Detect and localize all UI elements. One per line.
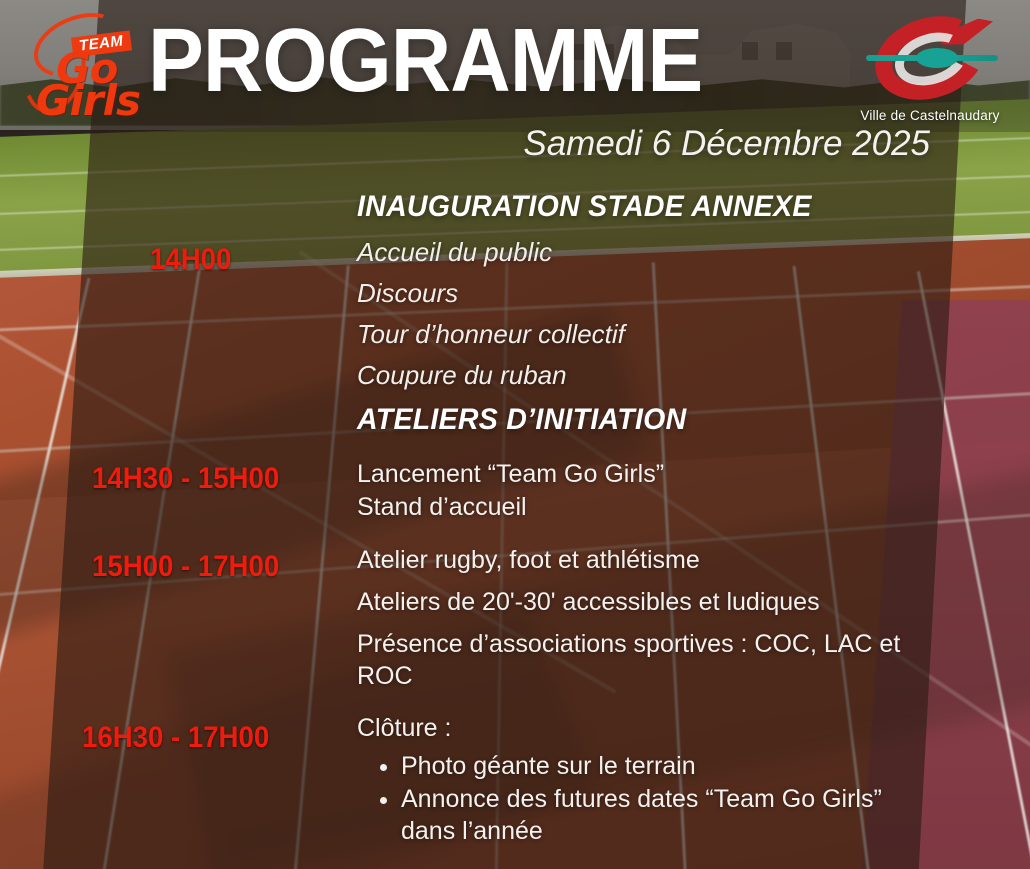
page-title: PROGRAMME (148, 16, 702, 106)
castelnaudary-logo: Ville de Castelnaudary (844, 12, 1016, 132)
city-logo-caption: Ville de Castelnaudary (844, 108, 1016, 123)
list-item: Annonce des futures dates “Team Go Girls… (401, 783, 931, 848)
item-ateliers-duree: Ateliers de 20'-30' accessibles et ludiq… (357, 587, 820, 619)
poster-header: TEAM Go Girls PROGRAMME Samedi 6 Décembr… (0, 0, 1030, 176)
item-tour-honneur: Tour d’honneur collectif (357, 321, 625, 347)
team-go-girls-logo: TEAM Go Girls (22, 14, 160, 118)
item-discours: Discours (357, 280, 458, 306)
programme-poster: TEAM Go Girls PROGRAMME Samedi 6 Décembr… (0, 0, 1030, 869)
item-associations: Présence d’associations sportives : COC,… (357, 629, 917, 692)
cloture-bullet-list: Photo géante sur le terrain Annonce des … (357, 750, 931, 848)
time-inauguration: 14H00 (150, 245, 231, 275)
section-heading-inauguration: INAUGURATION STADE ANNEXE (357, 192, 812, 222)
item-stand-accueil: Stand d’accueil (357, 492, 527, 524)
item-cloture: Clôture : (357, 713, 451, 745)
time-ateliers-b: 15H00 - 17H00 (92, 552, 279, 582)
section-heading-ateliers: ATELIERS D’INITIATION (357, 405, 687, 435)
item-accueil-public: Accueil du public (357, 239, 552, 265)
item-lancement: Lancement “Team Go Girls” (357, 459, 664, 491)
city-emblem-icon (866, 12, 998, 104)
time-ateliers-a: 14H30 - 15H00 (92, 464, 279, 494)
item-coupure-ruban: Coupure du ruban (357, 362, 567, 388)
list-item: Photo géante sur le terrain (401, 750, 931, 783)
time-cloture: 16H30 - 17H00 (82, 723, 269, 753)
item-atelier-sports: Atelier rugby, foot et athlétisme (357, 545, 700, 577)
logo-line-girls: Girls (36, 80, 140, 122)
